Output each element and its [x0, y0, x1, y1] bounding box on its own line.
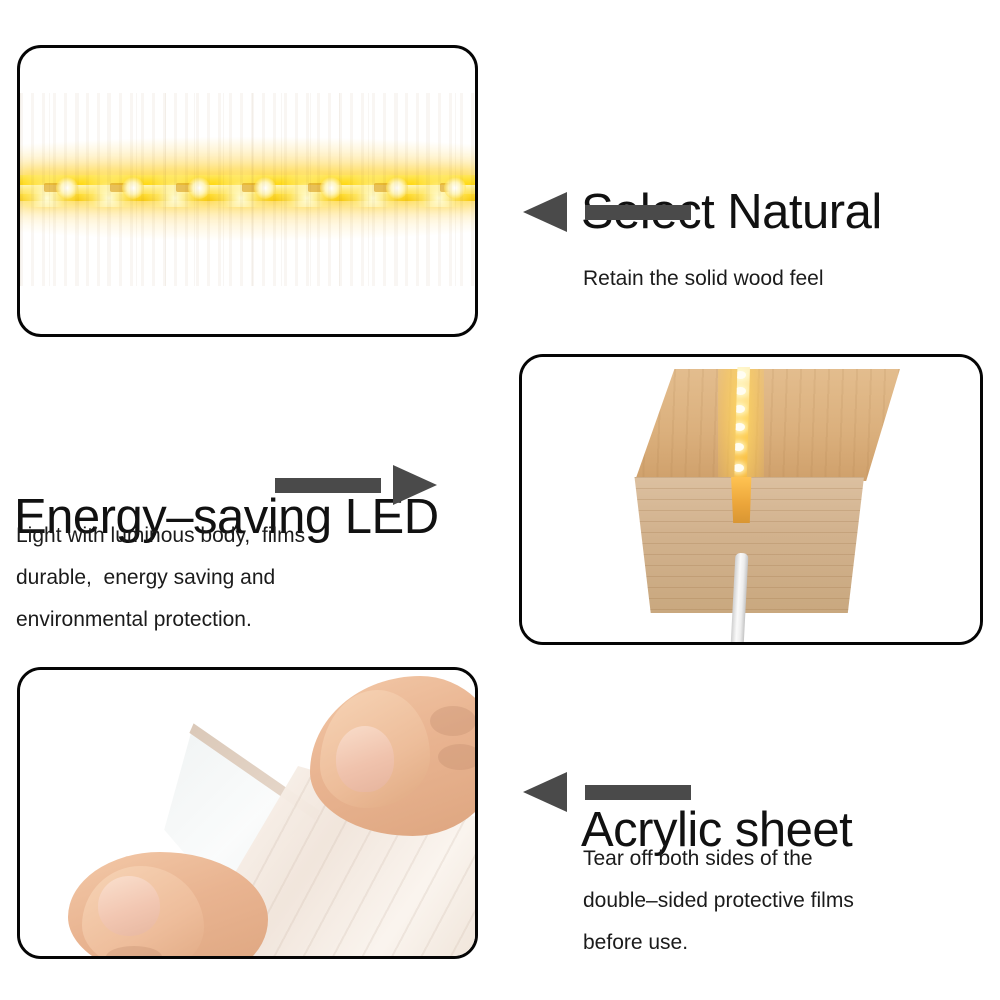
arrow-left-icon — [523, 192, 695, 232]
caption-wood: Retain the solid wood feel — [583, 258, 824, 300]
led-point — [254, 177, 276, 199]
photo-acrylic-peel — [20, 670, 475, 956]
led-flare — [336, 149, 410, 207]
photo-backdrop — [20, 670, 475, 956]
led-strip-band — [20, 175, 475, 201]
photo-panel-acrylic-film — [17, 667, 478, 959]
photo-panel-led-strip — [17, 45, 478, 337]
led-point — [320, 177, 342, 199]
led-chip — [308, 183, 325, 192]
led-upper-glow — [20, 123, 475, 185]
slot-led — [733, 464, 744, 472]
led-flare — [138, 149, 212, 207]
photo-wood-block — [522, 357, 980, 642]
arrow-head — [523, 772, 567, 812]
fingernail-lower — [98, 876, 160, 936]
arrow-left-icon — [523, 772, 695, 812]
wood-surface — [20, 93, 475, 286]
led-flare — [402, 149, 475, 207]
led-flare — [204, 149, 278, 207]
arrow-shaft — [275, 478, 381, 493]
fingernail-upper — [336, 726, 394, 792]
caption-line: Tear off both sides of the — [583, 838, 854, 880]
led-point — [386, 177, 408, 199]
knuckle-crease — [430, 706, 475, 736]
caption-line: double–sided protective films — [583, 880, 854, 922]
led-point — [444, 177, 466, 199]
led-flare — [270, 149, 344, 207]
photo-panel-wood-block — [519, 354, 983, 645]
led-chip — [242, 183, 259, 192]
arrow-shaft — [585, 785, 691, 800]
led-flare — [72, 149, 146, 207]
caption-line: durable, energy saving and — [16, 557, 305, 599]
wood-block-scene — [522, 357, 980, 642]
led-point — [122, 177, 144, 199]
knuckle-crease — [438, 744, 475, 770]
led-flare — [20, 149, 84, 207]
arrow-right-icon — [275, 465, 440, 505]
caption-line: before use. — [583, 922, 854, 964]
caption-led: Light with luminous body, films durable,… — [16, 515, 305, 641]
arrow-head — [523, 192, 567, 232]
arrow-head — [393, 465, 437, 505]
led-chip — [374, 183, 391, 192]
led-chip — [110, 183, 127, 192]
led-chip — [176, 183, 193, 192]
photo-led-strip — [20, 48, 475, 334]
led-point — [56, 177, 78, 199]
infographic-canvas: Select Natural Beech Wood Retain the sol… — [0, 0, 1000, 1000]
caption-line: Retain the solid wood feel — [583, 258, 824, 300]
led-strip-core — [20, 185, 475, 194]
led-chip — [44, 183, 61, 192]
led-point — [188, 177, 210, 199]
caption-line: environmental protection. — [16, 599, 305, 641]
caption-acrylic: Tear off both sides of the double–sided … — [583, 838, 854, 964]
wood-growth-rings — [621, 477, 891, 613]
led-chip — [440, 183, 457, 192]
led-lower-glow — [20, 185, 475, 255]
caption-line: Light with luminous body, films — [16, 515, 305, 557]
arrow-shaft — [585, 205, 691, 220]
